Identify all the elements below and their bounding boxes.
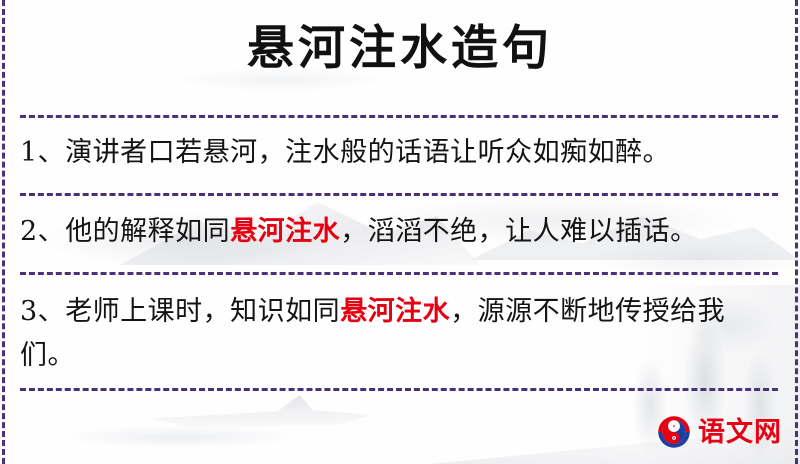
sentence-item-1: 1、演讲者口若悬河，注水般的话语让听众如痴如醉。 xyxy=(20,131,768,175)
page-border-left xyxy=(2,0,5,464)
yuwen-yinyang-logo-icon xyxy=(656,414,692,450)
sentence-item-3: 3、老师上课时，知识如同悬河注水，源源不断地传授给我们。 xyxy=(20,290,768,378)
divider-1 xyxy=(20,115,778,118)
sentence-3-index: 3、 xyxy=(20,296,65,327)
worksheet-page: 悬河注水造句 1、演讲者口若悬河，注水般的话语让听众如痴如醉。 2、他的解释如同… xyxy=(0,0,800,464)
sentence-3-keyword: 悬河注水 xyxy=(340,296,450,327)
sentence-2-index: 2、 xyxy=(20,216,65,247)
sentence-2-keyword: 悬河注水 xyxy=(230,216,340,247)
divider-2 xyxy=(20,193,778,196)
sentence-1-text-0: 演讲者口若悬河，注水般的话语让听众如痴如醉。 xyxy=(65,137,670,168)
divider-3 xyxy=(20,272,778,275)
page-content: 悬河注水造句 1、演讲者口若悬河，注水般的话语让听众如痴如醉。 2、他的解释如同… xyxy=(0,0,800,464)
page-border-right xyxy=(795,0,798,464)
sentence-1-index: 1、 xyxy=(20,137,65,168)
sentence-item-2: 2、他的解释如同悬河注水，滔滔不绝，让人难以插话。 xyxy=(20,210,768,254)
sentence-3-text-0: 老师上课时，知识如同 xyxy=(65,296,340,327)
site-logo-text: 语文网 xyxy=(698,419,782,446)
sentence-2-text-2: ，滔滔不绝，让人难以插话。 xyxy=(340,216,698,247)
divider-4 xyxy=(20,388,778,391)
page-title: 悬河注水造句 xyxy=(0,22,800,76)
site-logo[interactable]: 语文网 xyxy=(656,412,782,452)
sentence-2-text-0: 他的解释如同 xyxy=(65,216,230,247)
